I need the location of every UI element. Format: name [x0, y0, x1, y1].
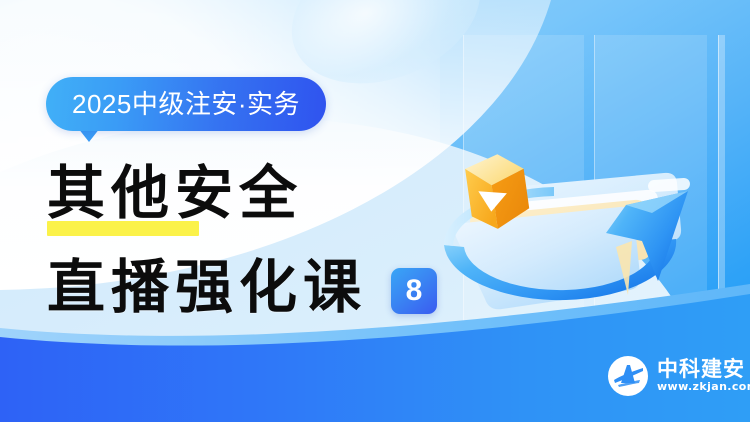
- headline-line-1: 其他安全: [47, 164, 303, 222]
- episode-number-value: 8: [406, 276, 423, 306]
- zkjan-circle-logo-icon: [608, 356, 648, 396]
- course-series-label: 2025中级注安·实务: [72, 91, 300, 117]
- headline-line-2: 直播强化课: [47, 258, 367, 316]
- course-series-badge[interactable]: 2025中级注安·实务: [46, 77, 326, 131]
- course-promo-banner: 2025中级注安·实务 其他安全 直播强化课 8 中科建安 www.zkjan.…: [0, 0, 750, 422]
- brand-logo[interactable]: 中科建安 www.zkjan.com: [608, 356, 750, 396]
- episode-number-badge: 8: [391, 268, 437, 314]
- brand-url: www.zkjan.com: [657, 380, 750, 394]
- brand-name: 中科建安: [657, 358, 750, 380]
